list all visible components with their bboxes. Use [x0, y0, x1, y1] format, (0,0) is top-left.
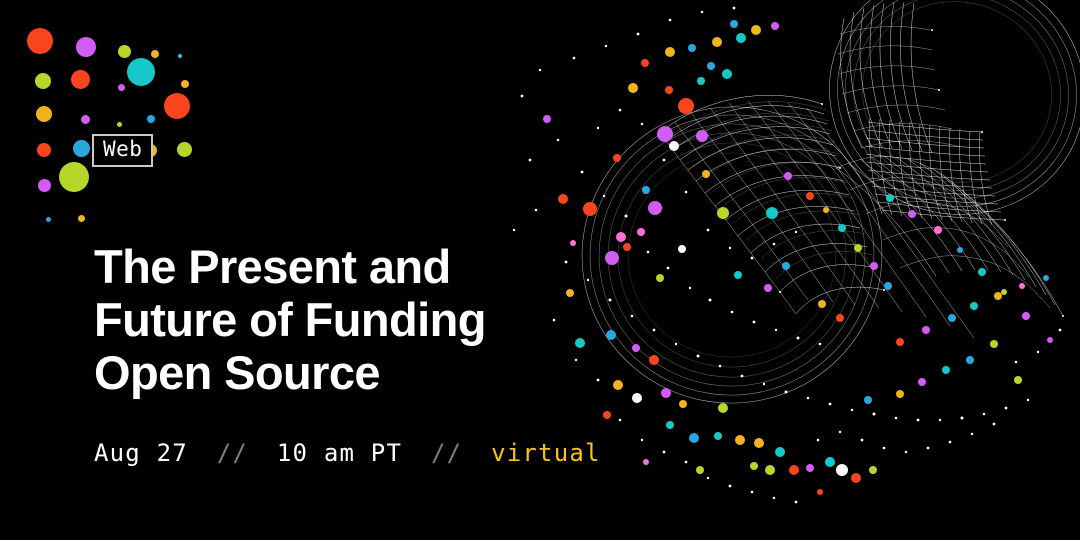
logo-dot: [147, 115, 155, 123]
opensource-web-logo: Web: [36, 34, 181, 174]
event-date: Aug 27: [94, 439, 188, 467]
logo-dot: [117, 122, 122, 127]
logo-dot: [59, 162, 89, 192]
title-line-3: Open Source: [94, 346, 524, 399]
title-line-2: Future of Funding: [94, 293, 524, 346]
logo-dot: [36, 106, 52, 122]
logo-dot: [78, 215, 85, 222]
event-banner: Web The Present and Future of Funding Op…: [0, 0, 1080, 540]
logo-dot: [38, 179, 51, 192]
logo-dot: [177, 142, 192, 157]
logo-dot: [73, 140, 90, 157]
logo-dot: [81, 115, 90, 124]
logo-dot: [76, 37, 96, 57]
logo-dot: [118, 84, 125, 91]
logo-web-badge: Web: [92, 134, 153, 167]
logo-dot: [27, 28, 53, 54]
logo-dot: [127, 58, 155, 86]
logo-dot: [46, 217, 51, 222]
logo-dot: [181, 80, 189, 88]
event-time: 10 am PT: [277, 439, 402, 467]
logo-dot: [118, 45, 131, 58]
logo-dot: [35, 73, 51, 89]
meta-separator-2: //: [431, 439, 462, 467]
logo-dot: [71, 70, 90, 89]
page-title: The Present and Future of Funding Open S…: [94, 240, 524, 399]
title-line-1: The Present and: [94, 240, 524, 293]
meta-separator-1: //: [217, 439, 248, 467]
logo-dot: [164, 93, 190, 119]
event-meta: Aug 27 // 10 am PT // virtual: [94, 438, 601, 468]
logo-dot: [151, 50, 159, 58]
event-mode: virtual: [491, 439, 601, 467]
logo-web-badge-label: Web: [103, 139, 142, 160]
logo-dot: [37, 143, 51, 157]
logo-dot: [178, 54, 182, 58]
